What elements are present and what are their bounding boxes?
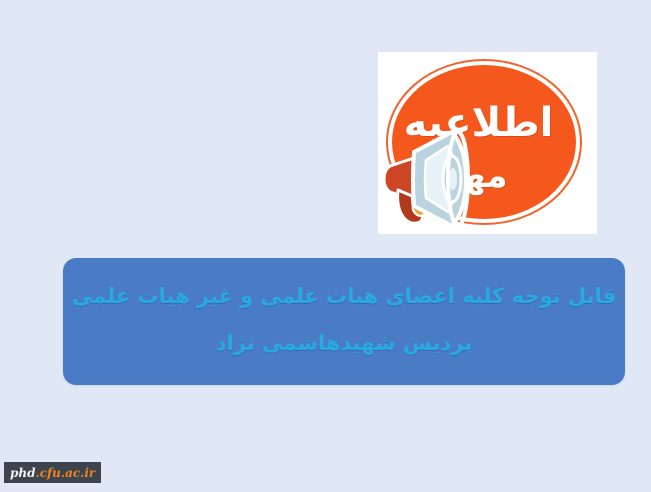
- watermark-text: phd.cfu.ac.ir: [10, 466, 95, 480]
- announcement-image-card: اطلاعیه مهم: [378, 52, 597, 234]
- megaphone-icon: [378, 126, 504, 234]
- watermark-domain: cfu.ac.ir: [40, 466, 96, 480]
- notice-line-1: قابل توجه کلیه اعضای هیات علمی و غیر هیا…: [72, 283, 616, 309]
- notice-banner: قابل توجه کلیه اعضای هیات علمی و غیر هیا…: [63, 258, 625, 385]
- watermark-prefix: phd: [10, 466, 36, 480]
- page-root: اطلاعیه مهم: [0, 0, 651, 492]
- site-watermark: phd.cfu.ac.ir: [4, 462, 101, 483]
- notice-line-2: پردیس شهیدهاشمی نژاد: [216, 330, 472, 356]
